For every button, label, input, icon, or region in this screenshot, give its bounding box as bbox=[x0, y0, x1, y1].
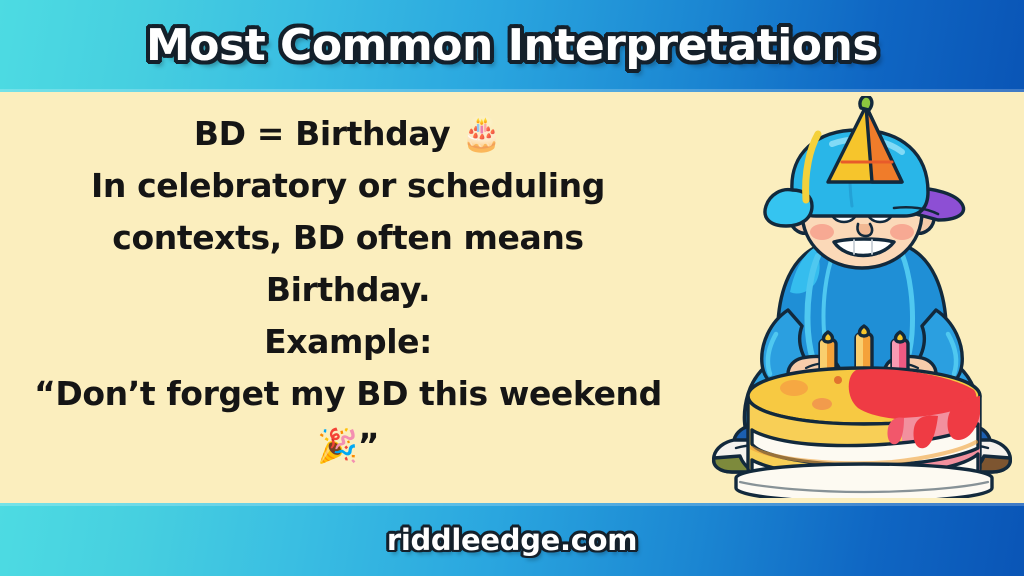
text-line-example-label: Example: bbox=[14, 316, 682, 368]
text-line-context-2: contexts, BD often means bbox=[14, 212, 682, 264]
infographic-card: Most Common Interpretations BD = Birthda… bbox=[0, 0, 1024, 576]
footer-banner: riddleedge.com bbox=[0, 503, 1024, 576]
header-banner: Most Common Interpretations bbox=[0, 0, 1024, 92]
page-title: Most Common Interpretations bbox=[146, 22, 878, 70]
text-line-example-end: 🎉” bbox=[14, 420, 682, 472]
text-line-example-quote: “Don’t forget my BD this weekend bbox=[14, 368, 682, 420]
text-line-context-1: In celebratory or scheduling bbox=[14, 160, 682, 212]
interpretation-text-block: BD = Birthday 🎂 In celebratory or schedu… bbox=[14, 108, 682, 472]
text-line-context-3: Birthday. bbox=[14, 264, 682, 316]
boy-with-birthday-cake-illustration bbox=[706, 96, 1018, 498]
site-wordmark: riddleedge.com bbox=[387, 524, 637, 556]
text-line-definition: BD = Birthday 🎂 bbox=[14, 108, 682, 160]
